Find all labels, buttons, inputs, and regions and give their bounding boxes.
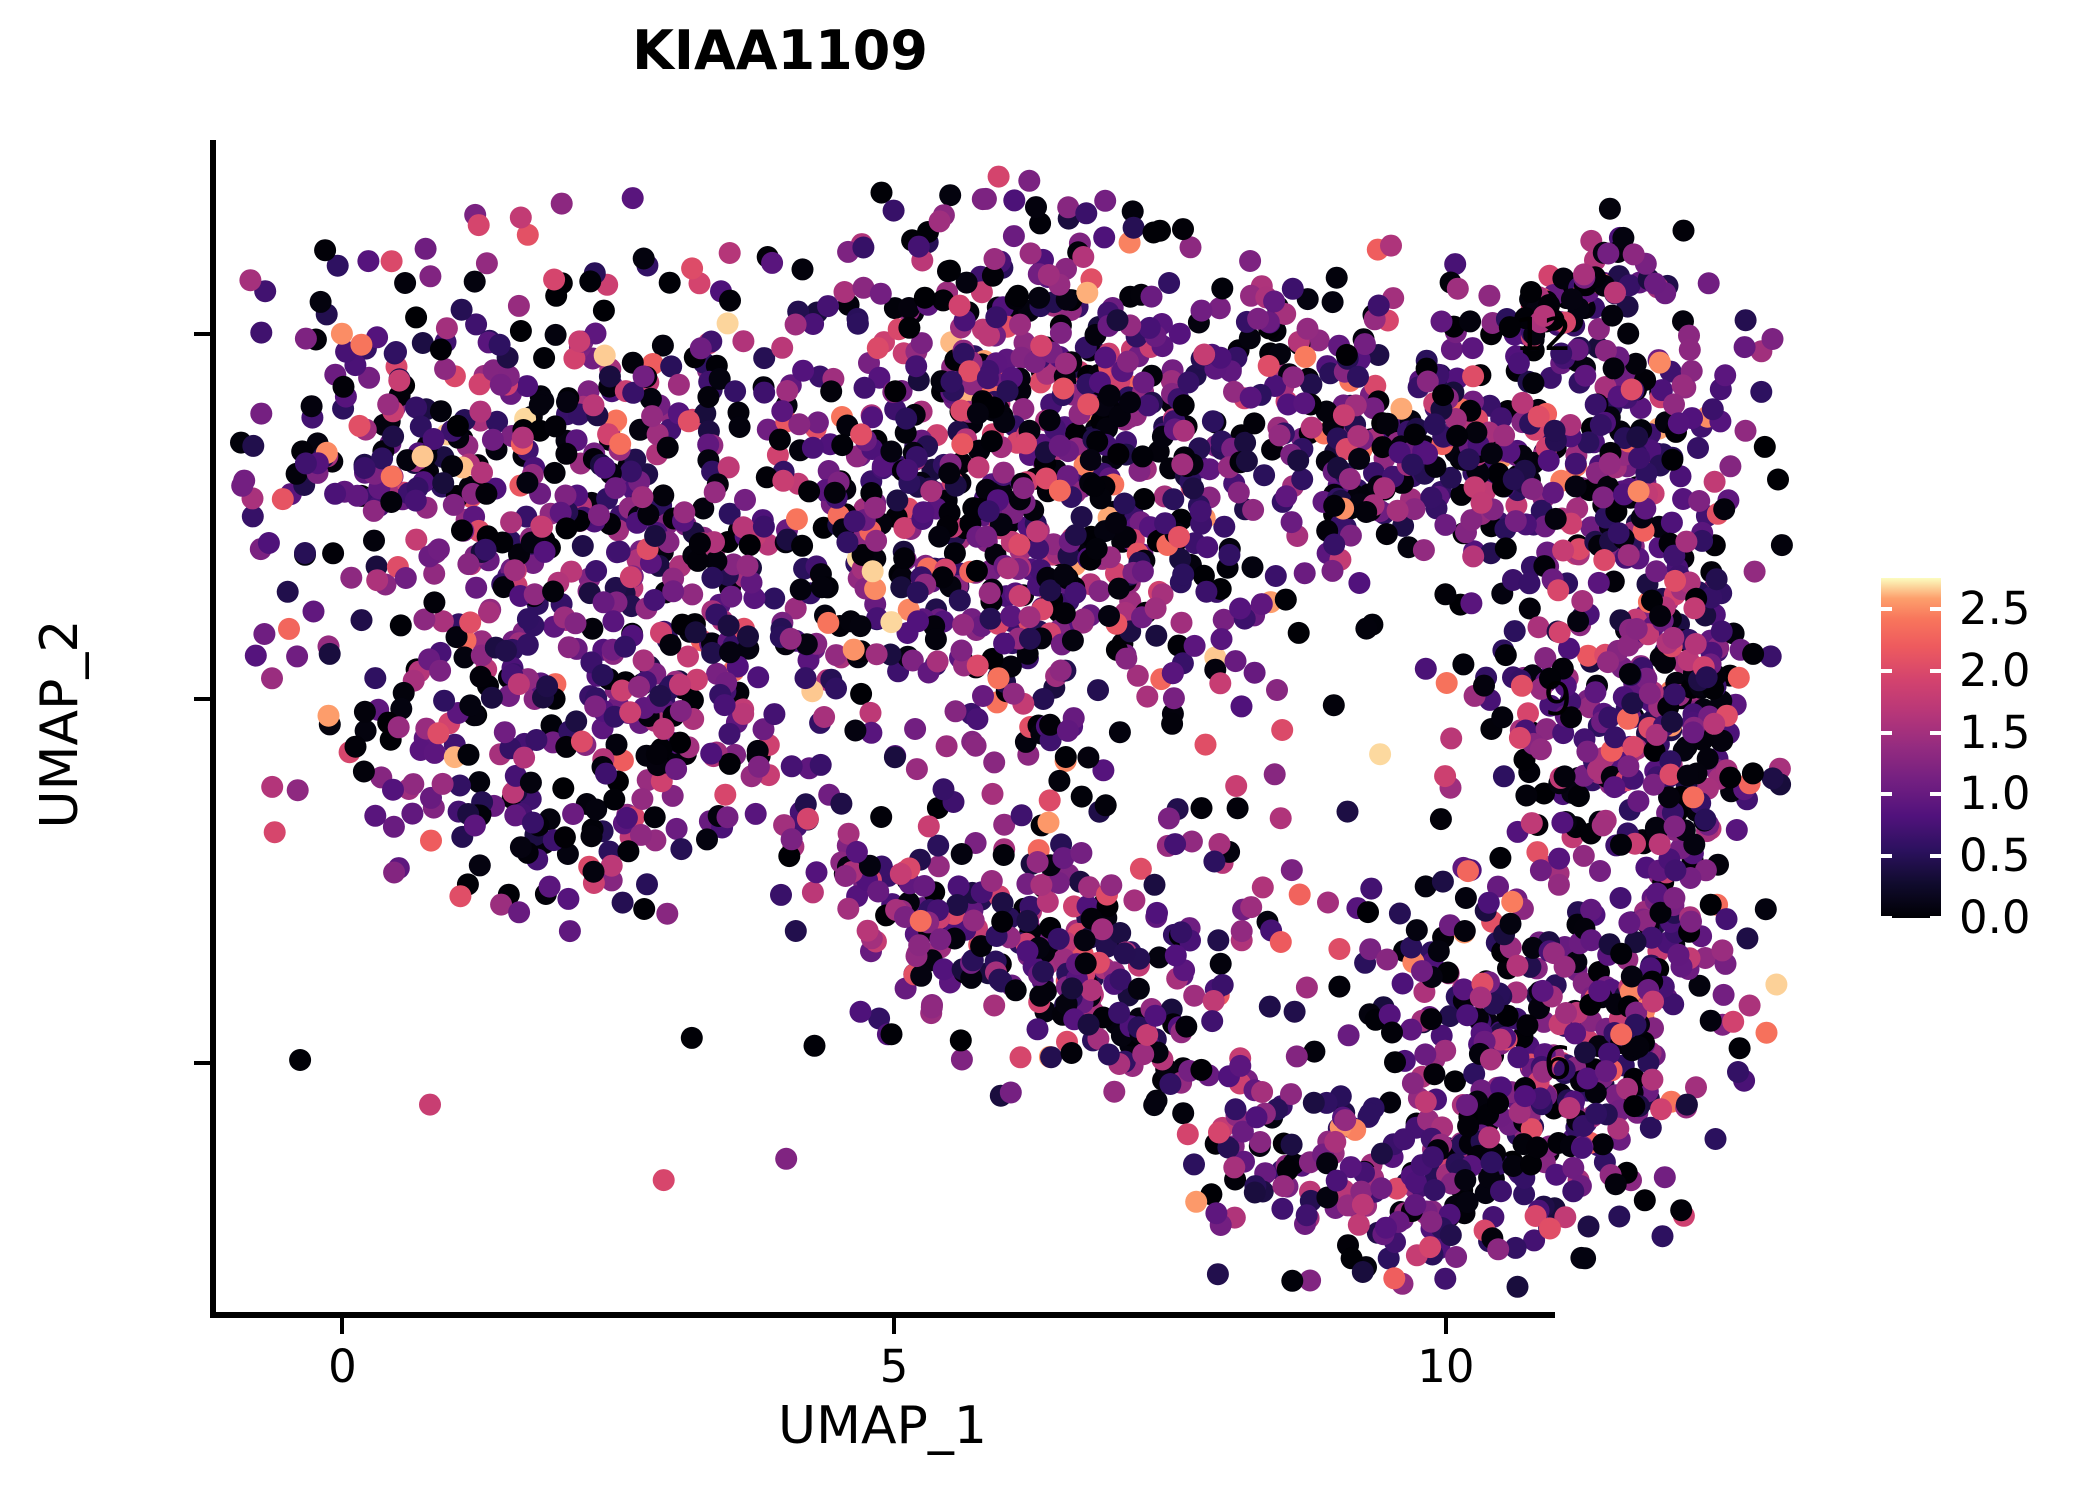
scatter-point — [1326, 1170, 1348, 1192]
scatter-point — [1420, 1211, 1442, 1233]
scatter-point — [1164, 833, 1186, 855]
scatter-point — [1588, 572, 1610, 594]
scatter-point — [982, 783, 1004, 805]
scatter-point — [277, 581, 299, 603]
scatter-point — [1032, 961, 1054, 983]
scatter-point — [388, 716, 410, 738]
scatter-point — [928, 526, 950, 548]
scatter-point — [603, 789, 625, 811]
scatter-point — [1444, 253, 1466, 275]
scatter-point — [1711, 939, 1733, 961]
scatter-point — [1668, 944, 1690, 966]
scatter-point — [562, 803, 584, 825]
scatter-point — [1213, 516, 1235, 538]
scatter-point — [556, 391, 578, 413]
scatter-point — [1175, 1016, 1197, 1038]
scatter-point — [972, 188, 994, 210]
scatter-point — [394, 272, 416, 294]
scatter-point — [681, 257, 703, 279]
scatter-point — [1423, 1063, 1445, 1085]
x-axis-label: UMAP_1 — [210, 1396, 1555, 1456]
scatter-point — [1478, 1126, 1500, 1148]
scatter-point — [802, 437, 824, 459]
scatter-point — [1177, 1123, 1199, 1145]
scatter-point — [644, 806, 666, 828]
scatter-point — [1493, 424, 1515, 446]
scatter-point — [242, 435, 264, 457]
scatter-point — [1008, 534, 1030, 556]
scatter-point — [1158, 807, 1180, 829]
scatter-point — [1087, 679, 1109, 701]
scatter-point — [1601, 305, 1623, 327]
scatter-point — [1296, 1204, 1318, 1226]
scatter-point — [1457, 860, 1479, 882]
x-tick-label: 5 — [880, 1342, 909, 1392]
scatter-point — [908, 934, 930, 956]
scatter-point — [662, 580, 684, 602]
scatter-point — [1521, 478, 1543, 500]
scatter-point — [1146, 902, 1168, 924]
scatter-point — [992, 892, 1014, 914]
scatter-point — [1603, 357, 1625, 379]
scatter-point — [1108, 578, 1130, 600]
scatter-point — [1454, 1169, 1476, 1191]
scatter-point — [1271, 1198, 1293, 1220]
scatter-point — [1053, 564, 1075, 586]
colorbar-tick-mark — [1881, 792, 1892, 796]
scatter-point — [1588, 980, 1610, 1002]
scatter-point — [1061, 977, 1083, 999]
scatter-point — [353, 761, 375, 783]
scatter-point — [745, 803, 767, 825]
scatter-point — [772, 470, 794, 492]
scatter-point — [1506, 955, 1528, 977]
scatter-point — [1389, 903, 1411, 925]
scatter-point — [1057, 720, 1079, 742]
scatter-point — [1053, 378, 1075, 400]
scatter-point — [854, 377, 876, 399]
scatter-point — [1457, 1191, 1479, 1213]
scatter-point — [881, 1023, 903, 1045]
scatter-point — [1702, 398, 1724, 420]
scatter-point — [966, 708, 988, 730]
scatter-point — [1242, 556, 1264, 578]
scatter-point — [1264, 763, 1286, 785]
scatter-point — [988, 166, 1010, 188]
scatter-point — [1288, 622, 1310, 644]
scatter-point — [732, 330, 754, 352]
scatter-point — [807, 411, 829, 433]
scatter-point — [633, 898, 655, 920]
scatter-point — [1736, 927, 1758, 949]
scatter-point — [464, 815, 486, 837]
scatter-point — [1462, 545, 1484, 567]
scatter-point — [844, 720, 866, 742]
scatter-point — [395, 567, 417, 589]
scatter-point — [1552, 540, 1574, 562]
scatter-point — [261, 776, 283, 798]
scatter-point — [1495, 537, 1517, 559]
scatter-point — [1095, 794, 1117, 816]
scatter-point — [1593, 549, 1615, 571]
scatter-point — [717, 312, 739, 334]
scatter-point — [1159, 1073, 1181, 1095]
scatter-point — [495, 640, 517, 662]
scatter-point — [739, 534, 761, 556]
scatter-point — [1049, 435, 1071, 457]
scatter-point — [1568, 785, 1590, 807]
colorbar-tick-mark — [1881, 854, 1892, 858]
scatter-point — [1554, 956, 1576, 978]
scatter-point — [314, 239, 336, 261]
scatter-point — [1414, 1043, 1436, 1065]
scatter-point — [1038, 812, 1060, 834]
scatter-point — [697, 386, 719, 408]
scatter-point — [850, 683, 872, 705]
scatter-point — [1683, 834, 1705, 856]
scatter-point — [1107, 309, 1129, 331]
scatter-point — [835, 865, 857, 887]
scatter-point — [1370, 1177, 1392, 1199]
scatter-point — [870, 283, 892, 305]
scatter-point — [1190, 1059, 1212, 1081]
scatter-point — [1452, 653, 1474, 675]
scatter-point — [536, 675, 558, 697]
scatter-point — [904, 718, 926, 740]
scatter-point — [508, 295, 530, 317]
scatter-point — [1371, 1143, 1393, 1165]
scatter-point — [340, 567, 362, 589]
scatter-point — [1393, 1128, 1415, 1150]
scatter-point — [1039, 409, 1061, 431]
scatter-point — [927, 650, 949, 672]
y-tick-label: 12 — [1515, 312, 1572, 357]
scatter-point — [1424, 1179, 1446, 1201]
scatter-point — [653, 718, 675, 740]
scatter-point — [1270, 807, 1292, 829]
scatter-point — [781, 755, 803, 777]
scatter-point — [1673, 220, 1695, 242]
scatter-point — [331, 323, 353, 345]
scatter-point — [781, 828, 803, 850]
scatter-point — [681, 1027, 703, 1049]
scatter-point — [1229, 598, 1251, 620]
scatter-point — [939, 260, 961, 282]
scatter-point — [1711, 620, 1733, 642]
scatter-point — [1080, 979, 1102, 1001]
scatter-point — [883, 200, 905, 222]
scatter-point — [489, 334, 511, 356]
scatter-point — [289, 1049, 311, 1071]
scatter-point — [490, 374, 512, 396]
scatter-point — [785, 314, 807, 336]
scatter-point — [415, 238, 437, 260]
scatter-point — [508, 673, 530, 695]
scatter-point — [516, 472, 538, 494]
scatter-point — [1074, 929, 1096, 951]
scatter-point — [612, 892, 634, 914]
scatter-point — [1172, 1102, 1194, 1124]
scatter-point — [1050, 322, 1072, 344]
scatter-point — [1210, 953, 1232, 975]
scatter-point — [1225, 775, 1247, 797]
scatter-point — [965, 735, 987, 757]
scatter-point — [458, 744, 480, 766]
scatter-point — [1019, 628, 1041, 650]
scatter-point — [1013, 477, 1035, 499]
scatter-point — [504, 559, 526, 581]
scatter-point — [1339, 468, 1361, 490]
scatter-point — [951, 433, 973, 455]
scatter-point — [763, 703, 785, 725]
scatter-point — [870, 806, 892, 828]
scatter-point — [310, 291, 332, 313]
scatter-point — [993, 633, 1015, 655]
scatter-point — [907, 581, 929, 603]
scatter-point — [1025, 196, 1047, 218]
scatter-point — [588, 504, 610, 526]
scatter-point — [659, 272, 681, 294]
scatter-point — [1480, 1049, 1502, 1071]
scatter-point — [1136, 1024, 1158, 1046]
scatter-point — [1266, 679, 1288, 701]
scatter-point — [520, 772, 542, 794]
scatter-point — [1401, 454, 1423, 476]
scatter-point — [380, 491, 402, 513]
scatter-point — [1756, 1022, 1778, 1044]
scatter-point — [1132, 560, 1154, 582]
scatter-point — [792, 258, 814, 280]
scatter-point — [1338, 1024, 1360, 1046]
scatter-point — [1347, 425, 1369, 447]
scatter-point — [836, 531, 858, 553]
scatter-point — [834, 281, 856, 303]
scatter-point — [830, 793, 852, 815]
scatter-point — [1195, 581, 1217, 603]
scatter-point — [345, 736, 367, 758]
scatter-point — [1538, 450, 1560, 472]
scatter-point — [401, 803, 423, 825]
scatter-point — [245, 645, 267, 667]
scatter-point — [1415, 1091, 1437, 1113]
scatter-point — [1489, 847, 1511, 869]
scatter-point — [1713, 984, 1735, 1006]
scatter-point — [295, 328, 317, 350]
colorbar-tick-mark — [1930, 916, 1941, 920]
scatter-point — [1369, 743, 1391, 765]
scatter-point — [1458, 448, 1480, 470]
scatter-point — [1240, 896, 1262, 918]
scatter-point — [912, 501, 934, 523]
scatter-point — [665, 758, 687, 780]
scatter-point — [1755, 898, 1777, 920]
scatter-point — [1323, 694, 1345, 716]
scatter-point — [1093, 226, 1115, 248]
scatter-point — [294, 542, 316, 564]
scatter-point — [771, 400, 793, 422]
scatter-point — [1703, 713, 1725, 735]
scatter-point — [1281, 511, 1303, 533]
scatter-point — [656, 903, 678, 925]
scatter-point — [468, 214, 490, 236]
scatter-point — [469, 854, 491, 876]
scatter-point — [510, 836, 532, 858]
scatter-point — [1392, 973, 1414, 995]
scatter-point — [729, 416, 751, 438]
scatter-point — [1259, 996, 1281, 1018]
scatter-point — [983, 995, 1005, 1017]
scatter-point — [775, 1148, 797, 1170]
scatter-point — [678, 410, 700, 432]
scatter-point — [1649, 352, 1671, 374]
scatter-point — [1424, 413, 1446, 435]
scatter-point — [1519, 572, 1541, 594]
scatter-point — [1286, 1045, 1308, 1067]
scatter-point — [1402, 1072, 1424, 1094]
scatter-point — [471, 462, 493, 484]
scatter-point — [1019, 606, 1041, 628]
scatter-point — [1675, 531, 1697, 553]
scatter-point — [1428, 940, 1450, 962]
scatter-point — [433, 690, 455, 712]
scatter-point — [1317, 892, 1339, 914]
scatter-point — [867, 337, 889, 359]
scatter-point — [786, 508, 808, 530]
scatter-point — [649, 685, 671, 707]
scatter-point — [599, 366, 621, 388]
scatter-point — [1048, 770, 1070, 792]
scatter-point — [979, 582, 1001, 604]
scatter-point — [890, 863, 912, 885]
scatter-point — [1115, 648, 1137, 670]
scatter-point — [565, 710, 587, 732]
scatter-point — [950, 1029, 972, 1051]
scatter-point — [1413, 539, 1435, 561]
scatter-point — [1478, 892, 1500, 914]
scatter-point — [1714, 364, 1736, 386]
scatter-point — [1739, 995, 1761, 1017]
scatter-point — [802, 881, 824, 903]
scatter-point — [1020, 242, 1042, 264]
scatter-point — [1010, 1046, 1032, 1068]
scatter-point — [1225, 650, 1247, 672]
scatter-point — [1548, 848, 1570, 870]
x-axis-spine — [210, 1312, 1555, 1318]
scatter-point — [1145, 597, 1167, 619]
scatter-point — [1284, 1001, 1306, 1023]
scatter-point — [1462, 365, 1484, 387]
scatter-point — [545, 324, 567, 346]
scatter-point — [657, 437, 679, 459]
scatter-point — [481, 687, 503, 709]
scatter-point — [910, 965, 932, 987]
scatter-point — [1705, 1128, 1727, 1150]
scatter-point — [1294, 346, 1316, 368]
scatter-point — [616, 807, 638, 829]
scatter-point — [1347, 366, 1369, 388]
scatter-point — [1610, 834, 1632, 856]
scatter-point — [619, 701, 641, 723]
scatter-point — [476, 252, 498, 274]
colorbar-tick-label: 1.5 — [1959, 710, 2031, 755]
scatter-point — [1526, 841, 1548, 863]
scatter-point — [1623, 243, 1645, 265]
scatter-point — [1144, 1005, 1166, 1027]
scatter-point — [1456, 1004, 1478, 1026]
scatter-point — [1561, 288, 1583, 310]
scatter-point — [1376, 523, 1398, 545]
scatter-point — [1107, 443, 1129, 465]
scatter-point — [333, 376, 355, 398]
scatter-point — [594, 457, 616, 479]
scatter-point — [261, 667, 283, 689]
scatter-point — [482, 429, 504, 451]
scatter-point — [231, 475, 253, 497]
scatter-point — [1580, 929, 1602, 951]
scatter-point — [791, 535, 813, 557]
scatter-point — [558, 636, 580, 658]
scatter-point — [714, 694, 736, 716]
scatter-point — [531, 516, 553, 538]
scatter-point — [510, 320, 532, 342]
scatter-point — [972, 685, 994, 707]
scatter-point — [719, 753, 741, 775]
y-tick-label: 6 — [1543, 1041, 1572, 1086]
scatter-point — [1515, 785, 1537, 807]
colorbar-legend[interactable] — [1881, 578, 1941, 918]
scatter-point — [351, 609, 373, 631]
scatter-point — [871, 182, 893, 204]
scatter-point — [1270, 931, 1292, 953]
scatter-point — [1526, 1136, 1548, 1158]
scatter-point — [724, 380, 746, 402]
scatter-point — [544, 415, 566, 437]
scatter-point — [1547, 579, 1569, 601]
scatter-point — [1682, 721, 1704, 743]
scatter-point — [449, 885, 471, 907]
scatter-point — [720, 586, 742, 608]
scatter-point — [669, 674, 691, 696]
scatter-point — [1144, 874, 1166, 896]
scatter-point — [1471, 492, 1493, 514]
scatter-point — [1000, 1082, 1022, 1104]
scatter-point — [1163, 687, 1185, 709]
scatter-point — [1696, 666, 1718, 688]
scatter-point — [1406, 919, 1428, 941]
scatter-point — [1143, 1094, 1165, 1116]
scatter-point — [1282, 278, 1304, 300]
colorbar-tick-label: 0.5 — [1959, 833, 2031, 878]
scatter-point — [1610, 1023, 1632, 1045]
scatter-point — [1065, 524, 1087, 546]
scatter-point — [1668, 412, 1690, 434]
scatter-point — [1123, 217, 1145, 239]
scatter-point — [322, 542, 344, 564]
scatter-point — [585, 560, 607, 582]
scatter-point — [428, 538, 450, 560]
scatter-point — [1103, 1081, 1125, 1103]
scatter-point — [1171, 612, 1193, 634]
scatter-point — [1077, 393, 1099, 415]
scatter-point — [1193, 344, 1215, 366]
scatter-point — [470, 666, 492, 688]
scatter-point — [700, 743, 722, 765]
scatter-point — [1571, 590, 1593, 612]
scatter-point — [1333, 404, 1355, 426]
scatter-point — [1009, 585, 1031, 607]
scatter-point — [1610, 943, 1632, 965]
scatter-point — [1275, 485, 1297, 507]
